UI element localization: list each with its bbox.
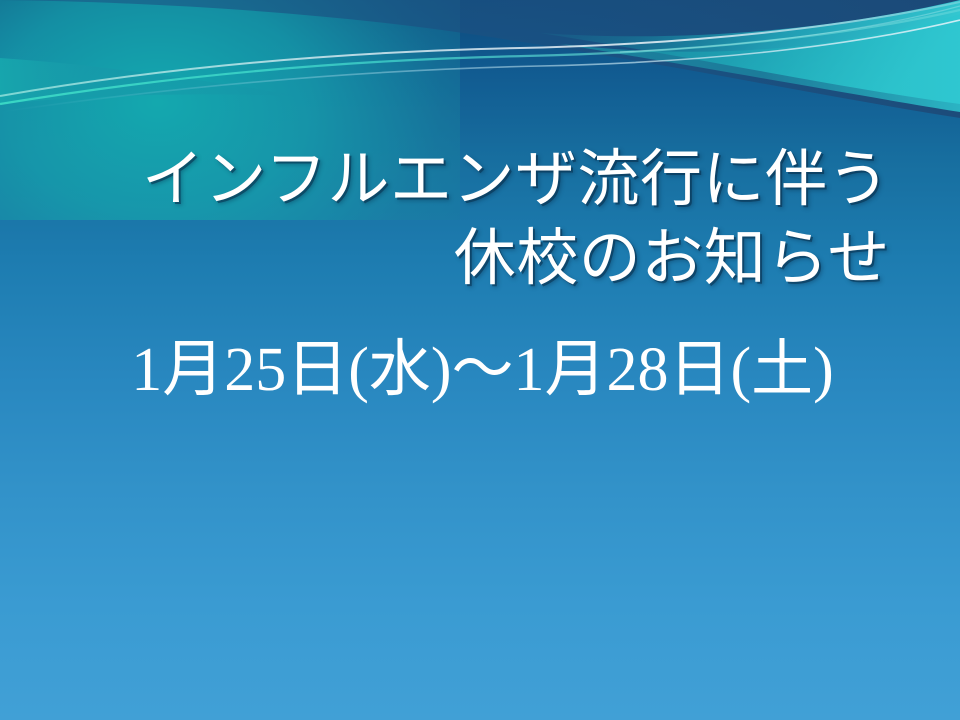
slide-subtitle: 1月25日(水)～1月28日(土): [60, 330, 905, 410]
presentation-slide: インフルエンザ流行に伴う 休校のお知らせ 1月25日(水)～1月28日(土): [0, 0, 960, 720]
title-line-2: 休校のお知らせ: [60, 219, 890, 298]
title-line-1: インフルエンザ流行に伴う: [60, 140, 890, 219]
wave-ribbon-decoration: [0, 0, 960, 135]
slide-title: インフルエンザ流行に伴う 休校のお知らせ: [60, 140, 890, 298]
subtitle-date-range: 1月25日(水)～1月28日(土): [60, 330, 905, 410]
